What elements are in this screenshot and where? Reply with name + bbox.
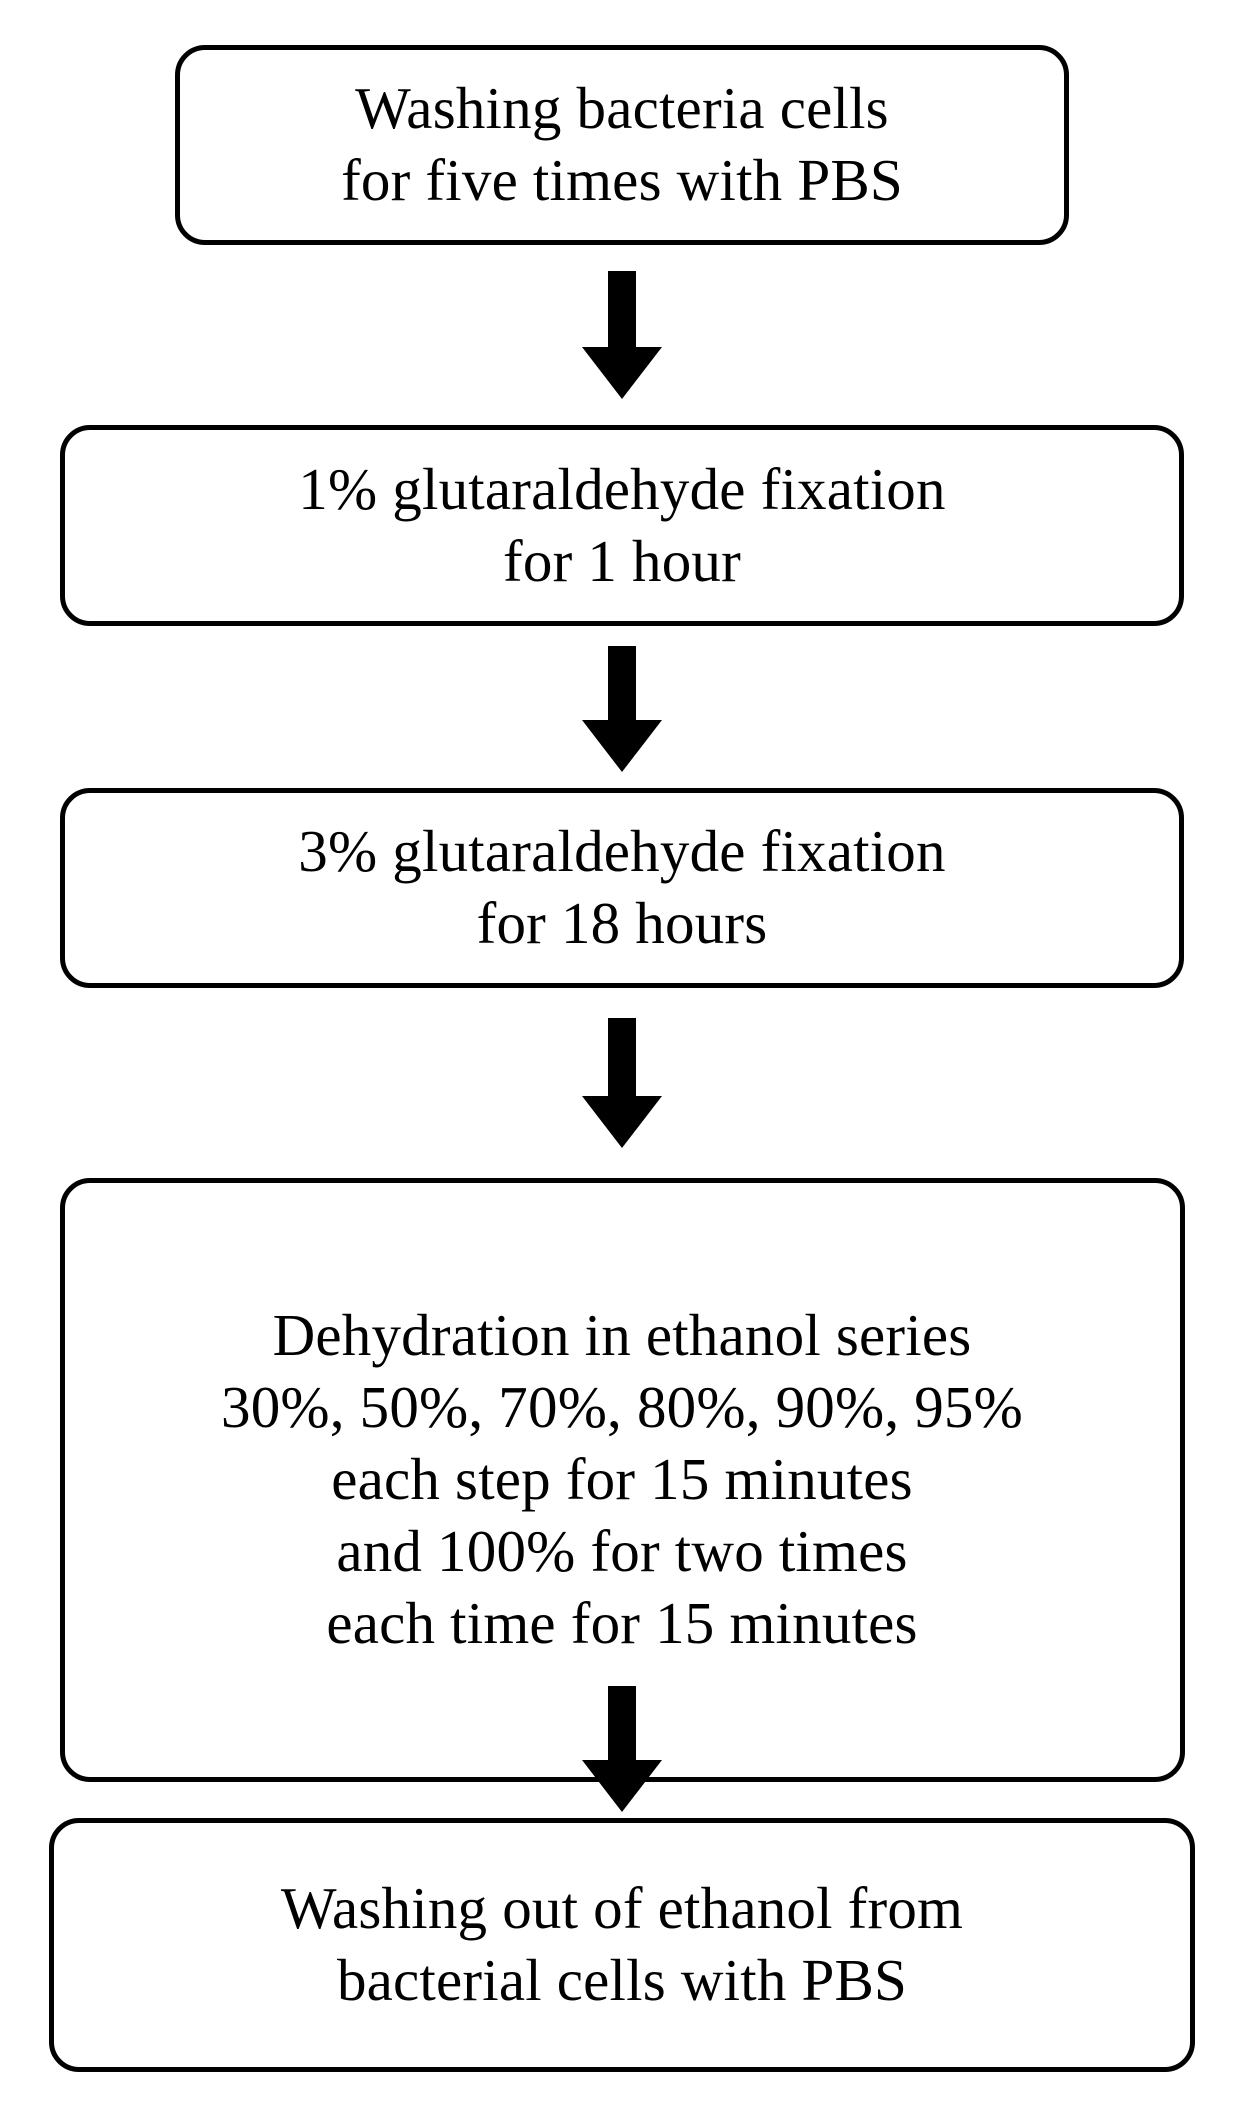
flow-arrow-1 — [0, 245, 1244, 425]
flow-node-line: and 100% for two times — [336, 1516, 907, 1588]
flow-node-glutaraldehyde-3-percent: 3% glutaraldehyde fixation for 18 hours — [60, 788, 1184, 988]
flow-arrow-2 — [0, 626, 1244, 788]
flow-node-wash-out-ethanol: Washing out of ethanol from bacterial ce… — [49, 1818, 1195, 2072]
flow-node-line: 30%, 50%, 70%, 80%, 90%, 95% — [221, 1372, 1023, 1444]
flow-node-line: Washing bacteria cells — [355, 73, 889, 145]
flow-node-line: Dehydration in ethanol series — [273, 1300, 972, 1372]
arrow-down-icon — [582, 271, 662, 399]
flow-node-line: for five times with PBS — [341, 145, 903, 217]
flow-node-line: each time for 15 minutes — [326, 1588, 917, 1660]
flow-node-dehydration-ethanol-series: Dehydration in ethanol series 30%, 50%, … — [60, 1178, 1185, 1782]
flow-node-glutaraldehyde-1-percent: 1% glutaraldehyde fixation for 1 hour — [60, 425, 1184, 626]
arrow-down-icon — [582, 1018, 662, 1148]
arrow-down-icon — [582, 646, 662, 772]
flow-arrow-3 — [0, 988, 1244, 1178]
flow-node-line: 1% glutaraldehyde fixation — [298, 454, 945, 526]
flow-node-line: each step for 15 minutes — [331, 1444, 913, 1516]
flow-node-line: for 1 hour — [503, 526, 741, 598]
flow-node-line: 3% glutaraldehyde fixation — [298, 816, 945, 888]
flow-node-line: Washing out of ethanol from — [281, 1873, 963, 1945]
flow-node-line: bacterial cells with PBS — [337, 1945, 907, 2017]
flowchart-diagram: Washing bacteria cells for five times wi… — [0, 0, 1244, 2124]
flow-node-wash-pbs: Washing bacteria cells for five times wi… — [175, 45, 1069, 245]
flow-arrow-4 — [0, 1782, 1244, 1818]
flow-node-line: for 18 hours — [477, 888, 768, 960]
